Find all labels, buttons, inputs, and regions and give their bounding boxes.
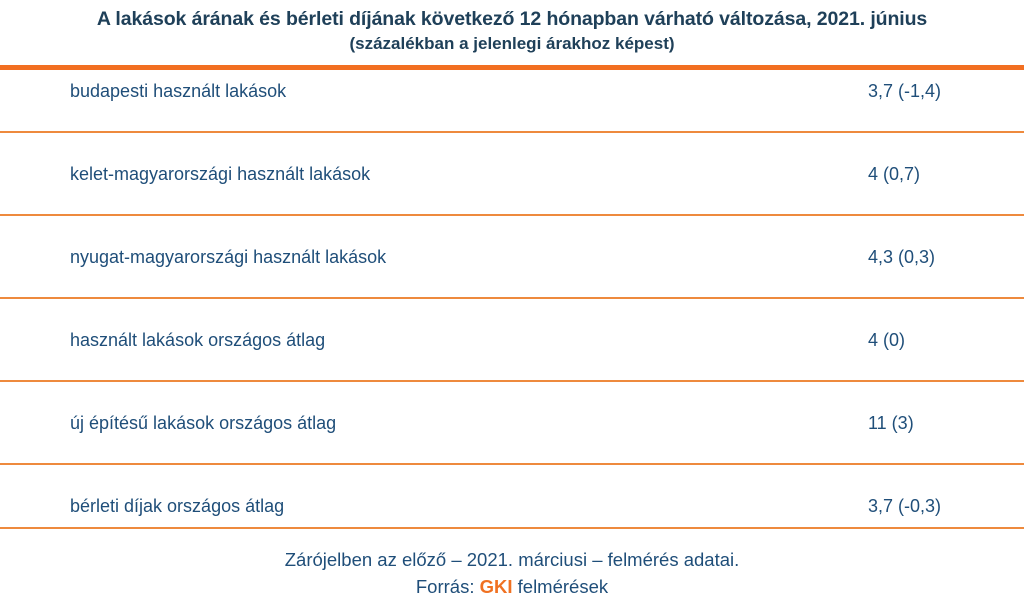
source-line: Forrás: GKI felmérések xyxy=(0,573,1024,600)
table-row: kelet-magyarországi használt lakások 4 (… xyxy=(0,153,1024,195)
row-value: 4 (0) xyxy=(800,319,1024,361)
row-value: 3,7 (-0,3) xyxy=(800,485,1024,527)
separator-rule xyxy=(0,380,1024,382)
row-separator-cell xyxy=(0,112,1024,154)
page-subtitle: (százalékban a jelenlegi árakhoz képest) xyxy=(0,32,1024,56)
row-label: bérleti díjak országos átlag xyxy=(0,485,800,527)
separator-rule xyxy=(0,131,1024,133)
source-brand: GKI xyxy=(480,576,513,597)
title-block: A lakások árának és bérleti díjának köve… xyxy=(0,0,1024,56)
row-value: 3,7 (-1,4) xyxy=(800,70,1024,112)
data-table-container: budapesti használt lakások 3,7 (-1,4) ke… xyxy=(0,65,1024,529)
row-label: budapesti használt lakások xyxy=(0,70,800,112)
source-prefix: Forrás: xyxy=(416,576,480,597)
table-row: nyugat-magyarországi használt lakások 4,… xyxy=(0,236,1024,278)
row-separator-cell xyxy=(0,278,1024,320)
row-separator-cell xyxy=(0,361,1024,403)
separator-rule xyxy=(0,463,1024,465)
footer-block: Zárójelben az előző – 2021. márciusi – f… xyxy=(0,546,1024,600)
slide-canvas: A lakások árának és bérleti díjának köve… xyxy=(0,0,1024,425)
row-value: 4,3 (0,3) xyxy=(800,236,1024,278)
row-separator-cell xyxy=(0,444,1024,486)
source-suffix: felmérések xyxy=(513,576,609,597)
row-separator xyxy=(0,278,1024,320)
row-label: új építésű lakások országos átlag xyxy=(0,402,800,444)
separator-rule xyxy=(0,297,1024,299)
table-row: új építésű lakások országos átlag 11 (3) xyxy=(0,402,1024,444)
separator-rule xyxy=(0,214,1024,216)
row-separator xyxy=(0,361,1024,403)
row-separator xyxy=(0,112,1024,154)
row-separator-cell xyxy=(0,195,1024,237)
table-row: budapesti használt lakások 3,7 (-1,4) xyxy=(0,70,1024,112)
row-separator xyxy=(0,195,1024,237)
row-label: használt lakások országos átlag xyxy=(0,319,800,361)
footnote: Zárójelben az előző – 2021. márciusi – f… xyxy=(0,546,1024,573)
forecast-table: budapesti használt lakások 3,7 (-1,4) ke… xyxy=(0,70,1024,527)
row-separator xyxy=(0,444,1024,486)
table-row: használt lakások országos átlag 4 (0) xyxy=(0,319,1024,361)
row-value: 4 (0,7) xyxy=(800,153,1024,195)
table-bottom-rule xyxy=(0,527,1024,529)
row-value: 11 (3) xyxy=(800,402,1024,444)
row-label: nyugat-magyarországi használt lakások xyxy=(0,236,800,278)
row-label: kelet-magyarországi használt lakások xyxy=(0,153,800,195)
table-row: bérleti díjak országos átlag 3,7 (-0,3) xyxy=(0,485,1024,527)
page-title: A lakások árának és bérleti díjának köve… xyxy=(0,7,1024,32)
